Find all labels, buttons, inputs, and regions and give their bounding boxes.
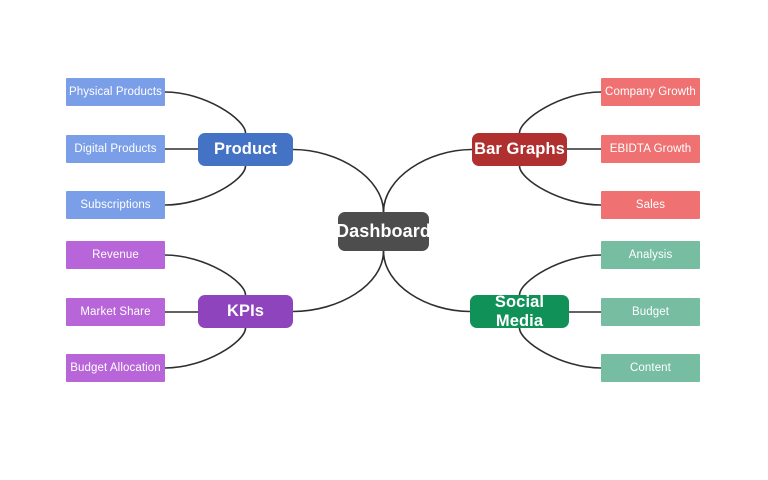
branch-node-social-media-label: Social Media (470, 293, 569, 329)
leaf-node-kpis-0[interactable]: Revenue (66, 241, 165, 269)
leaf-node-bar-graphs-0[interactable]: Company Growth (601, 78, 700, 106)
leaf-node-bar-graphs-1-label: EBIDTA Growth (610, 143, 692, 156)
branch-node-product[interactable]: Product (198, 133, 293, 166)
leaf-node-bar-graphs-2-label: Sales (636, 199, 665, 212)
leaf-node-product-0-label: Physical Products (69, 86, 162, 99)
leaf-node-social-media-1-label: Budget (632, 306, 669, 319)
edge-root-to-product (293, 150, 384, 213)
branch-node-product-label: Product (214, 140, 277, 158)
branch-node-kpis-label: KPIs (227, 302, 264, 320)
edge-social-media-leaf-0 (520, 255, 602, 295)
leaf-node-social-media-2-label: Content (630, 362, 671, 375)
edge-root-to-bar-graphs (384, 150, 473, 213)
leaf-node-bar-graphs-1[interactable]: EBIDTA Growth (601, 135, 700, 163)
branch-node-bar-graphs-label: Bar Graphs (474, 140, 565, 158)
leaf-node-product-1[interactable]: Digital Products (66, 135, 165, 163)
leaf-node-kpis-1[interactable]: Market Share (66, 298, 165, 326)
leaf-node-product-0[interactable]: Physical Products (66, 78, 165, 106)
leaf-node-bar-graphs-0-label: Company Growth (605, 86, 696, 99)
branch-node-kpis[interactable]: KPIs (198, 295, 293, 328)
leaf-node-social-media-2[interactable]: Content (601, 354, 700, 382)
leaf-node-kpis-2-label: Budget Allocation (70, 362, 161, 375)
leaf-node-product-2[interactable]: Subscriptions (66, 191, 165, 219)
edge-bar-graphs-leaf-2 (520, 166, 602, 205)
edge-root-to-social-media (384, 251, 471, 312)
branch-node-social-media[interactable]: Social Media (470, 295, 569, 328)
root-node-dashboard[interactable]: Dashboard (338, 212, 429, 251)
leaf-node-social-media-0[interactable]: Analysis (601, 241, 700, 269)
leaf-node-kpis-0-label: Revenue (92, 249, 139, 262)
edge-kpis-leaf-0 (165, 255, 246, 295)
leaf-node-product-2-label: Subscriptions (80, 199, 150, 212)
edge-product-leaf-0 (165, 92, 246, 133)
branch-node-bar-graphs[interactable]: Bar Graphs (472, 133, 567, 166)
leaf-node-kpis-1-label: Market Share (80, 306, 150, 319)
leaf-node-product-1-label: Digital Products (74, 143, 156, 156)
edge-product-leaf-2 (165, 166, 246, 205)
root-node-dashboard-label: Dashboard (336, 222, 431, 242)
leaf-node-social-media-0-label: Analysis (629, 249, 673, 262)
edge-social-media-leaf-2 (520, 328, 602, 368)
edge-bar-graphs-leaf-0 (520, 92, 602, 133)
edge-root-to-kpis (293, 251, 384, 312)
leaf-node-social-media-1[interactable]: Budget (601, 298, 700, 326)
mind-map-canvas: DashboardPhysical ProductsDigital Produc… (0, 0, 768, 480)
edge-kpis-leaf-2 (165, 328, 246, 368)
leaf-node-kpis-2[interactable]: Budget Allocation (66, 354, 165, 382)
leaf-node-bar-graphs-2[interactable]: Sales (601, 191, 700, 219)
